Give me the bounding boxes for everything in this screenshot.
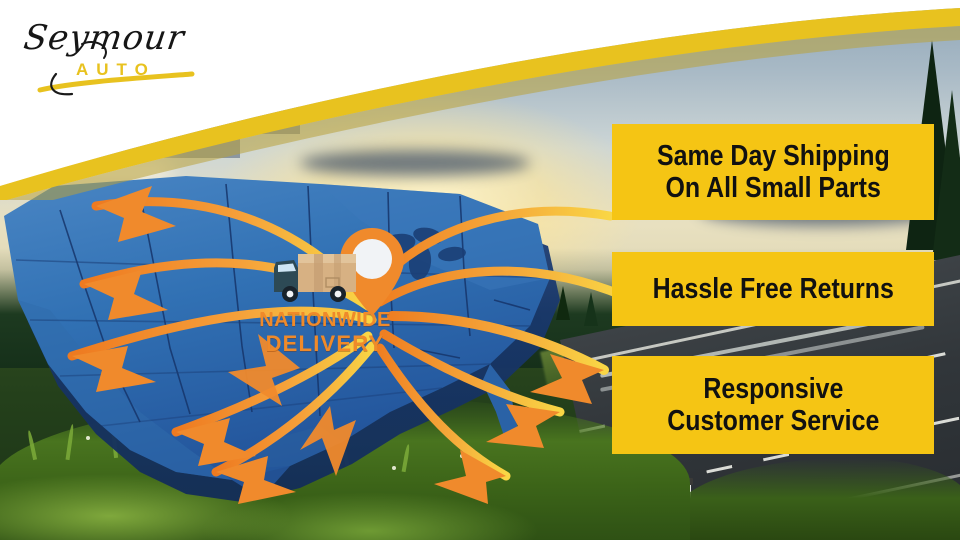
callout-line: On All Small Parts xyxy=(665,172,880,204)
delivery-truck-icon xyxy=(272,248,372,306)
promo-banner: NATIONWIDE DELIVERY Seymour AUTO Same Da… xyxy=(0,0,960,540)
nationwide-label-line1: NATIONWIDE xyxy=(250,310,400,332)
curved-arrow-icon xyxy=(486,404,560,448)
callout-responsive-customer-service[interactable]: Responsive Customer Service xyxy=(612,356,934,454)
curved-arrow-icon xyxy=(434,450,506,504)
callout-line: Hassle Free Returns xyxy=(652,273,893,305)
callout-hassle-free-returns[interactable]: Hassle Free Returns xyxy=(612,252,934,326)
curved-arrow-icon xyxy=(96,186,176,242)
nationwide-delivery-label: NATIONWIDE DELIVERY xyxy=(250,310,400,355)
callout-line: Responsive xyxy=(703,373,843,405)
callout-line: Customer Service xyxy=(667,405,879,437)
callout-line: Same Day Shipping xyxy=(657,140,890,172)
callout-same-day-shipping[interactable]: Same Day Shipping On All Small Parts xyxy=(612,124,934,220)
foreground-pine-tree xyxy=(932,90,960,260)
nationwide-label-line2: DELIVERY xyxy=(250,332,400,356)
seymour-auto-logo[interactable]: Seymour AUTO xyxy=(16,16,206,98)
